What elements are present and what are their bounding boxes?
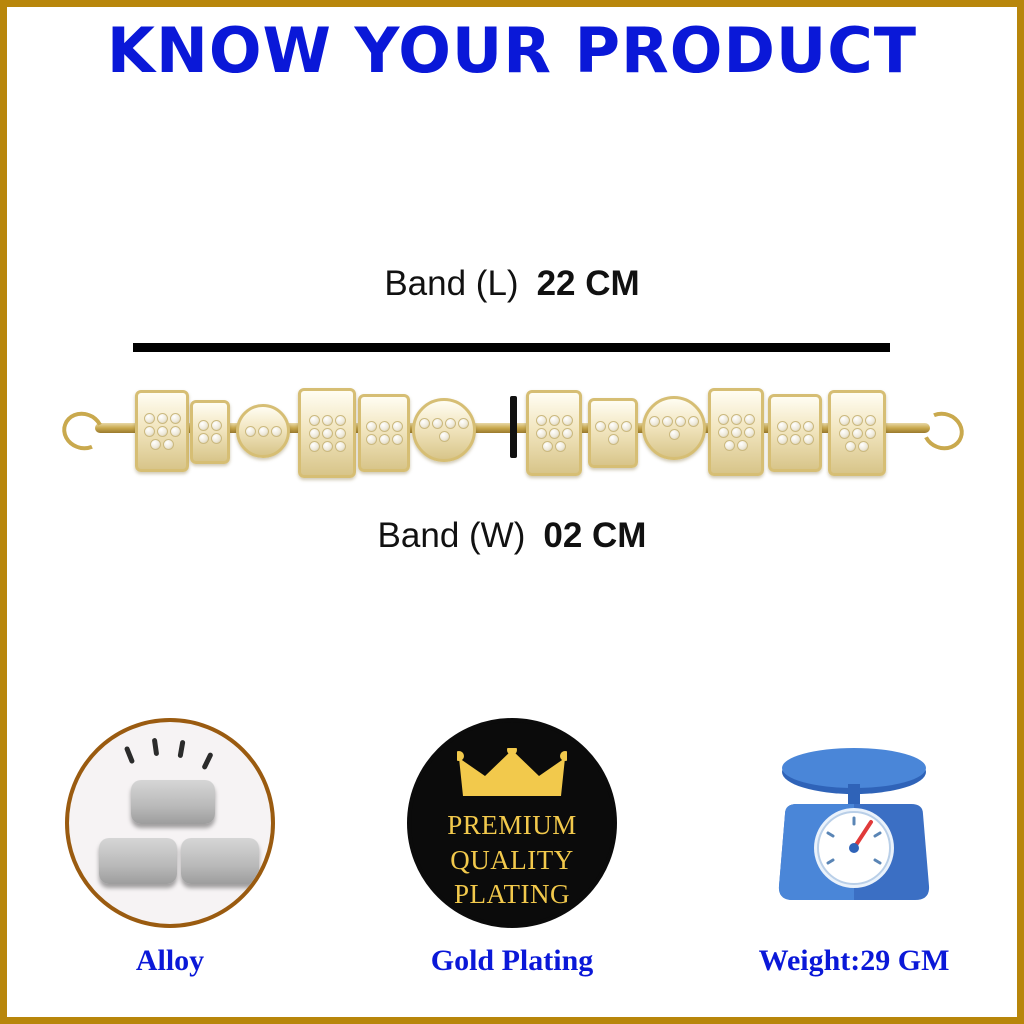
stone	[366, 434, 377, 445]
stone-cluster	[138, 393, 186, 469]
premium-quality-plating-badge: PREMIUM QUALITY PLATING	[407, 718, 617, 928]
stone	[163, 439, 174, 450]
spark	[152, 738, 159, 757]
bracelet-link	[642, 396, 706, 460]
stone	[675, 416, 686, 427]
stone-cluster	[771, 397, 819, 469]
premium-line-2: QUALITY	[411, 843, 613, 878]
stone	[245, 426, 256, 437]
stone	[445, 418, 456, 429]
bracelet-link	[358, 394, 410, 472]
stone	[803, 434, 814, 445]
stone	[731, 414, 742, 425]
premium-line-1: PREMIUM	[411, 808, 613, 843]
stone	[536, 428, 547, 439]
stone-cluster	[361, 397, 407, 469]
stone	[744, 427, 755, 438]
feature-gold-plating: PREMIUM QUALITY PLATING Gold Plating	[362, 718, 662, 978]
stone	[157, 413, 168, 424]
stone	[150, 439, 161, 450]
stone	[144, 413, 155, 424]
stone	[392, 434, 403, 445]
band-width-label: Band (W)	[378, 516, 526, 555]
clasp-hook-left-icon	[57, 406, 109, 456]
stone	[536, 415, 547, 426]
stone	[865, 415, 876, 426]
stone	[858, 441, 869, 452]
stone	[731, 427, 742, 438]
band-length-value: 22 CM	[537, 264, 640, 303]
stone-cluster	[645, 399, 703, 457]
page-title: KNOW YOUR PRODUCT	[0, 14, 1024, 87]
bracelet-link	[190, 400, 230, 464]
stone	[366, 421, 377, 432]
premium-line-3: PLATING	[411, 877, 613, 912]
stone	[839, 428, 850, 439]
stone	[555, 441, 566, 452]
stone	[845, 441, 856, 452]
band-width-row: Band (W)02 CM	[0, 516, 1024, 556]
stone-cluster	[301, 391, 353, 475]
stone-cluster	[415, 401, 473, 459]
ingot-bottom-left	[99, 838, 177, 884]
stone	[335, 415, 346, 426]
stone	[198, 433, 209, 444]
stone	[865, 428, 876, 439]
bracelet-link	[298, 388, 356, 478]
bracelet-link	[588, 398, 638, 468]
premium-badge-text: PREMIUM QUALITY PLATING	[411, 808, 613, 912]
stone	[157, 426, 168, 437]
stone	[737, 440, 748, 451]
stone	[198, 420, 209, 431]
bracelet-link	[236, 404, 290, 458]
stone	[595, 421, 606, 432]
stone	[852, 428, 863, 439]
weighing-scale-svg	[749, 718, 959, 928]
stone	[790, 421, 801, 432]
band-width-value: 02 CM	[543, 516, 646, 555]
stone-cluster	[591, 401, 635, 465]
stone	[309, 428, 320, 439]
stone	[379, 434, 390, 445]
stone-cluster	[529, 393, 579, 473]
feature-label-alloy: Alloy	[20, 944, 320, 978]
stone	[439, 431, 450, 442]
stone	[621, 421, 632, 432]
stone	[458, 418, 469, 429]
stone	[335, 441, 346, 452]
stone	[549, 428, 560, 439]
stone	[309, 415, 320, 426]
stone	[432, 418, 443, 429]
bracelet-link	[708, 388, 764, 476]
bracelet-link	[828, 390, 886, 476]
width-marker-bar	[510, 396, 517, 458]
stone	[322, 428, 333, 439]
ingot-bottom-right	[181, 838, 259, 884]
stone	[744, 414, 755, 425]
stone	[608, 421, 619, 432]
bracelet-link	[135, 390, 189, 472]
stone	[322, 441, 333, 452]
stone	[211, 433, 222, 444]
stone	[688, 416, 699, 427]
stone	[392, 421, 403, 432]
stone	[669, 429, 680, 440]
stone	[724, 440, 735, 451]
band-length-label: Band (L)	[384, 264, 518, 303]
stone	[803, 421, 814, 432]
stone	[335, 428, 346, 439]
stone	[777, 421, 788, 432]
stone	[170, 426, 181, 437]
stone	[790, 434, 801, 445]
stone	[718, 414, 729, 425]
spark	[177, 740, 185, 759]
stone	[608, 434, 619, 445]
ingot-top	[131, 780, 215, 824]
bracelet-link	[768, 394, 822, 472]
know-your-product-infographic: KNOW YOUR PRODUCT Band (L)22 CM	[0, 0, 1024, 1024]
stone-cluster	[193, 403, 227, 461]
stone	[839, 415, 850, 426]
stone	[662, 416, 673, 427]
stone	[562, 415, 573, 426]
stone	[211, 420, 222, 431]
bracelet-link	[412, 398, 476, 462]
bracelet-link	[526, 390, 582, 476]
crown-icon	[457, 748, 567, 800]
feature-row: Alloy PREMIUM QUALITY PLATING Gold Plati…	[0, 718, 1024, 1018]
stone	[170, 413, 181, 424]
stone	[542, 441, 553, 452]
feature-label-gold-plating: Gold Plating	[362, 944, 662, 978]
spark	[201, 752, 213, 770]
stone-cluster	[831, 393, 883, 473]
spark	[124, 746, 135, 765]
stone-cluster	[239, 407, 287, 455]
weighing-scale-icon	[749, 718, 959, 928]
feature-label-weight: Weight:29 GM	[704, 944, 1004, 978]
feature-weight: Weight:29 GM	[704, 718, 1004, 978]
product-image-bracelet	[40, 368, 984, 498]
stone	[852, 415, 863, 426]
stone	[322, 415, 333, 426]
stone-cluster	[711, 391, 761, 473]
band-length-row: Band (L)22 CM	[0, 264, 1024, 304]
stone	[379, 421, 390, 432]
stone	[419, 418, 430, 429]
stone	[562, 428, 573, 439]
stone	[777, 434, 788, 445]
stone	[271, 426, 282, 437]
clasp-hook-right-icon	[917, 406, 969, 456]
feature-alloy: Alloy	[20, 718, 320, 978]
measurement-bar	[133, 343, 890, 352]
stone	[649, 416, 660, 427]
stone	[144, 426, 155, 437]
stone	[718, 427, 729, 438]
metal-ingots-icon	[65, 718, 275, 928]
stone	[309, 441, 320, 452]
stone	[258, 426, 269, 437]
stone	[549, 415, 560, 426]
